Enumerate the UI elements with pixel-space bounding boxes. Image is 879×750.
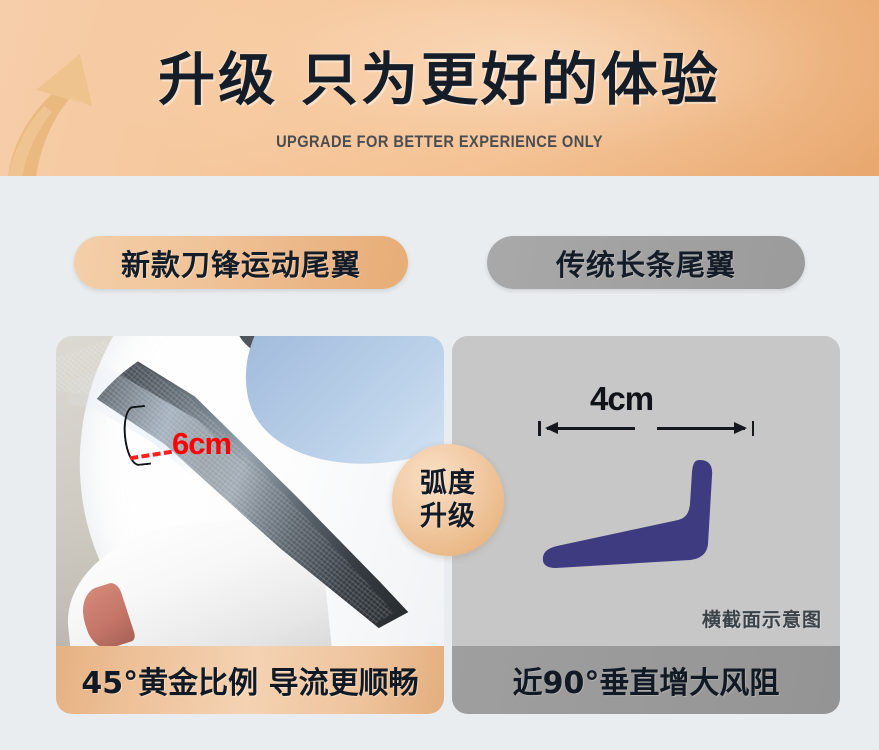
badge-line-1: 弧度 — [420, 467, 476, 500]
left-comparison-panel: 6cm 45°黄金比例 导流更顺畅 — [56, 336, 444, 714]
spoiler-photo: 6cm — [56, 336, 444, 646]
page-title: 升级 只为更好的体验 — [0, 47, 879, 113]
dimension-line-right — [657, 427, 745, 430]
measurement-label: 6cm — [172, 426, 231, 462]
left-column-label: 新款刀锋运动尾翼 — [74, 236, 408, 289]
left-caption-bar: 45°黄金比例 导流更顺畅 — [56, 646, 444, 714]
arrow-head-left-icon — [545, 422, 558, 434]
upgrade-badge: 弧度 升级 — [392, 444, 504, 556]
diagram-caption: 横截面示意图 — [702, 605, 822, 632]
dimension-tick-right — [752, 421, 755, 436]
dimension-line-left — [547, 427, 635, 430]
page-subtitle: UPGRADE FOR BETTER EXPERIENCE ONLY — [62, 131, 818, 153]
spoiler-cross-section-shape — [540, 458, 730, 576]
dimension-arrow — [538, 420, 754, 436]
badge-line-2: 升级 — [420, 500, 476, 533]
page-header: 升级 只为更好的体验 UPGRADE FOR BETTER EXPERIENCE… — [0, 0, 879, 176]
cross-section-diagram: 4cm 横截面示意图 — [452, 336, 840, 646]
right-caption-bar: 近90°垂直增大风阻 — [452, 646, 840, 714]
promo-page: 升级 只为更好的体验 UPGRADE FOR BETTER EXPERIENCE… — [0, 0, 879, 750]
dimension-tick-left — [538, 421, 541, 436]
dimension-label: 4cm — [590, 380, 653, 418]
right-column-label: 传统长条尾翼 — [487, 236, 805, 289]
right-comparison-panel: 4cm 横截面示意图 近90°垂直增大风阻 — [452, 336, 840, 714]
arrow-head-right-icon — [734, 422, 747, 434]
